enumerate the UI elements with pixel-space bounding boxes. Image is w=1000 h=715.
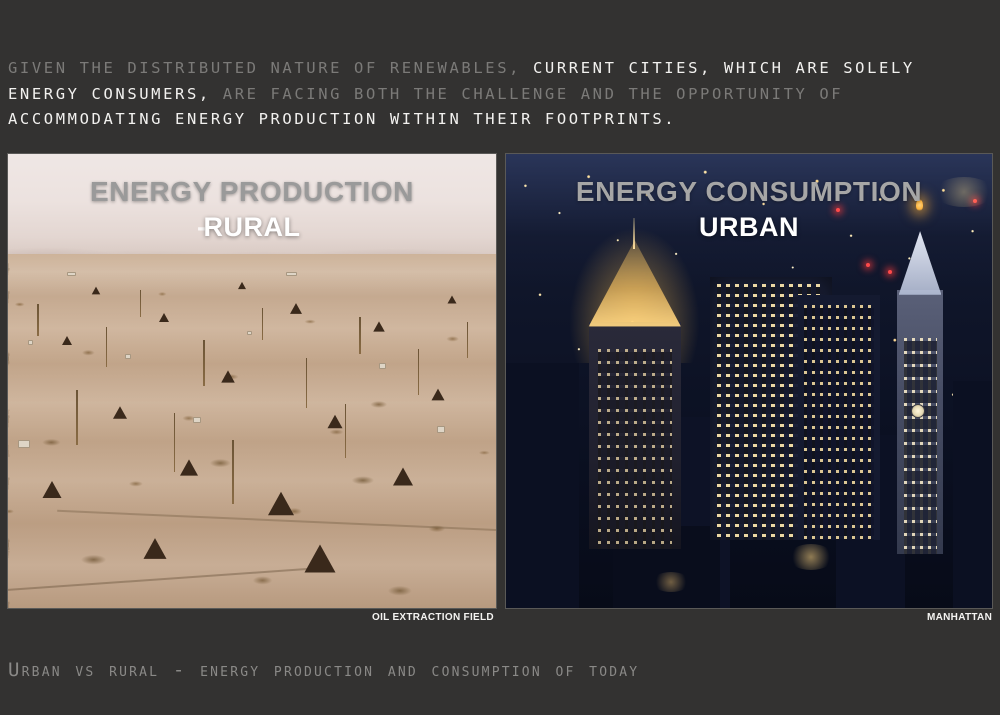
headline-segment-1: Given the distributed nature of renewabl… <box>8 59 533 77</box>
pumpjack-icon <box>393 467 413 485</box>
photo-oil-extraction-field: ENERGY PRODUCTION - RURAL <box>8 154 496 608</box>
derrick-pole <box>203 340 205 385</box>
pumpjack-icon <box>143 539 166 560</box>
pumpjack-icon <box>328 415 343 429</box>
pumpjack-icon <box>290 303 302 314</box>
derrick-pole <box>345 404 347 458</box>
pumpjack-icon <box>180 459 198 475</box>
headline-paragraph: Given the distributed nature of renewabl… <box>8 56 994 133</box>
storage-tank <box>67 272 76 276</box>
derrick-pole <box>232 440 234 504</box>
storage-tank <box>247 331 252 335</box>
headline-segment-4: accommodating energy production within t… <box>8 110 676 128</box>
derrick-pole <box>359 317 361 353</box>
panel-energy-consumption[interactable]: ENERGY CONSUMPTION URBAN <box>505 153 993 609</box>
pumpjack-icon <box>268 492 294 515</box>
pumpjack-icon <box>238 282 246 289</box>
red-beacon-light <box>866 263 870 267</box>
derrick-pole <box>174 413 176 472</box>
pumpjack-icon <box>62 336 72 345</box>
pumpjack-icon <box>159 313 169 322</box>
derrick-pole <box>467 322 469 358</box>
derrick-pole <box>306 358 308 408</box>
derrick-pole <box>262 308 264 340</box>
storage-tank <box>379 363 386 369</box>
derrick-pole <box>106 327 108 368</box>
pumpjack-icon <box>221 370 235 382</box>
storage-tank <box>193 417 201 423</box>
red-beacon-light <box>888 270 892 274</box>
storage-tank <box>125 354 131 359</box>
caption-right-photo: MANHATTAN <box>927 612 992 623</box>
scrub-brush-layer <box>8 263 496 608</box>
storage-tank <box>28 340 33 345</box>
overlay-subtitle-left: RURAL <box>8 212 496 243</box>
building-mass <box>953 381 992 608</box>
pumpjack-icon <box>113 406 127 419</box>
pumpjack-icon <box>305 544 336 572</box>
met-life-clock-face <box>911 404 925 418</box>
derrick-pole <box>140 290 142 317</box>
golden-tower-body <box>589 322 681 549</box>
pumpjack-icon <box>373 321 385 331</box>
overlay-title-right: ENERGY CONSUMPTION <box>506 176 992 208</box>
lit-office-tower-2 <box>798 295 881 540</box>
headline-segment-3: are facing both the challenge and the op… <box>211 85 843 103</box>
storage-tank <box>286 272 297 276</box>
slide-footer-title: Urban vs Rural - Energy Production and C… <box>8 659 639 681</box>
met-life-tower-body <box>897 290 943 553</box>
pumpjack-icon <box>43 481 62 498</box>
photo-manhattan-night: ENERGY CONSUMPTION URBAN <box>506 154 992 608</box>
storage-tank <box>437 426 445 433</box>
pumpjack-icon <box>431 389 444 401</box>
overlay-subtitle-right: URBAN <box>506 212 992 243</box>
storage-tank <box>18 440 30 448</box>
derrick-pole <box>76 390 78 444</box>
pumpjack-icon <box>448 295 457 303</box>
overlay-title-left: ENERGY PRODUCTION <box>8 176 496 208</box>
derrick-pole <box>418 349 420 394</box>
caption-left-photo: OIL EXTRACTION FIELD <box>372 612 494 623</box>
pumpjack-icon <box>92 286 101 294</box>
panel-energy-production[interactable]: ENERGY PRODUCTION - RURAL <box>7 153 497 609</box>
building-mass <box>506 363 579 608</box>
derrick-pole <box>37 304 39 336</box>
presentation-slide: Given the distributed nature of renewabl… <box>0 0 1000 715</box>
